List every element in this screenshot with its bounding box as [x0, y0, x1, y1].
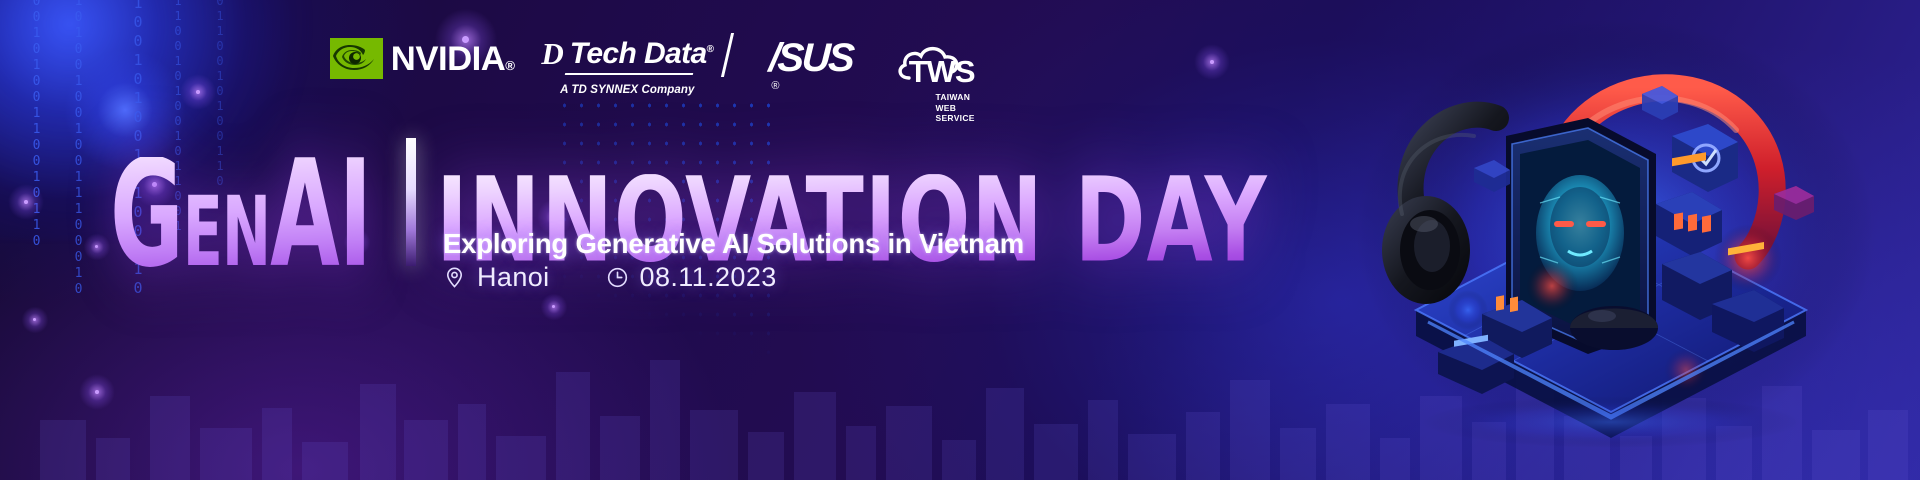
event-meta-row: Hanoi 08.11.2023: [443, 262, 777, 293]
binary-stream-1: 0010100110010110: [30, 0, 43, 250]
nvidia-registered-mark: ®: [505, 58, 514, 73]
tech-data-wordmark: Tech Data®: [570, 39, 714, 69]
sparkle-dot: [1210, 60, 1214, 64]
event-date: 08.11.2023: [606, 262, 777, 293]
sparkle-dot: [552, 305, 555, 308]
logo-tws[interactable]: TWS TAIWAN WEB SERVICE: [895, 38, 975, 126]
tech-data-underline: [565, 73, 693, 75]
tws-subtext-line1: TAIWAN: [935, 92, 974, 103]
nvidia-eye-icon: [330, 38, 383, 79]
logo-asus[interactable]: /SUS ®: [769, 38, 852, 92]
tws-cloud-icon: TWS: [895, 38, 975, 86]
location-pin-icon: [443, 266, 466, 289]
tws-subtext: TAIWAN WEB SERVICE: [935, 92, 974, 124]
event-location: Hanoi: [443, 262, 550, 293]
binary-stream-2: 1010010010011100010: [72, 0, 85, 298]
sparkle-dot: [95, 390, 99, 394]
sparkle-dot: [95, 245, 98, 248]
sparkle-dot: [33, 318, 36, 321]
nvidia-wordmark: NVIDIA®: [391, 42, 515, 76]
tech-data-tagline: A TD SYNNEX Company: [560, 84, 694, 96]
page-subtitle: Exploring Generative AI Solutions in Vie…: [443, 228, 1024, 260]
sparkle-dot: [196, 90, 200, 94]
asus-registered-mark: ®: [771, 80, 779, 92]
tws-wordmark: TWS: [909, 56, 975, 87]
genai-innovation-day-banner: 0010100110010110 1010010010011100010 100…: [0, 0, 1920, 480]
logo-nvidia[interactable]: NVIDIA®: [330, 38, 513, 79]
tech-data-monogram: D: [541, 38, 562, 69]
partner-logo-bar: NVIDIA® D Tech Data® A TD SYNNEX Company…: [330, 38, 975, 126]
tws-subtext-line2: WEB: [935, 103, 974, 114]
genai-g: G: [110, 127, 183, 300]
tws-subtext-line3: SERVICE: [935, 113, 974, 124]
genai-title: GENAI: [110, 157, 371, 272]
title-divider-bar: [406, 138, 416, 266]
sparkle-dot: [24, 200, 28, 204]
event-location-label: Hanoi: [477, 262, 550, 293]
tech-data-slash-accent: [721, 33, 734, 77]
clock-icon: [606, 266, 629, 289]
genai-en: EN: [183, 177, 270, 289]
logo-tech-data[interactable]: D Tech Data® A TD SYNNEX Company: [541, 38, 713, 96]
asus-wordmark: /SUS: [768, 38, 853, 78]
genai-ai: AI: [270, 127, 371, 300]
event-date-label: 08.11.2023: [640, 262, 777, 293]
isometric-ai-tech-illustration: [1356, 18, 1876, 458]
tech-data-registered-mark: ®: [707, 44, 714, 55]
